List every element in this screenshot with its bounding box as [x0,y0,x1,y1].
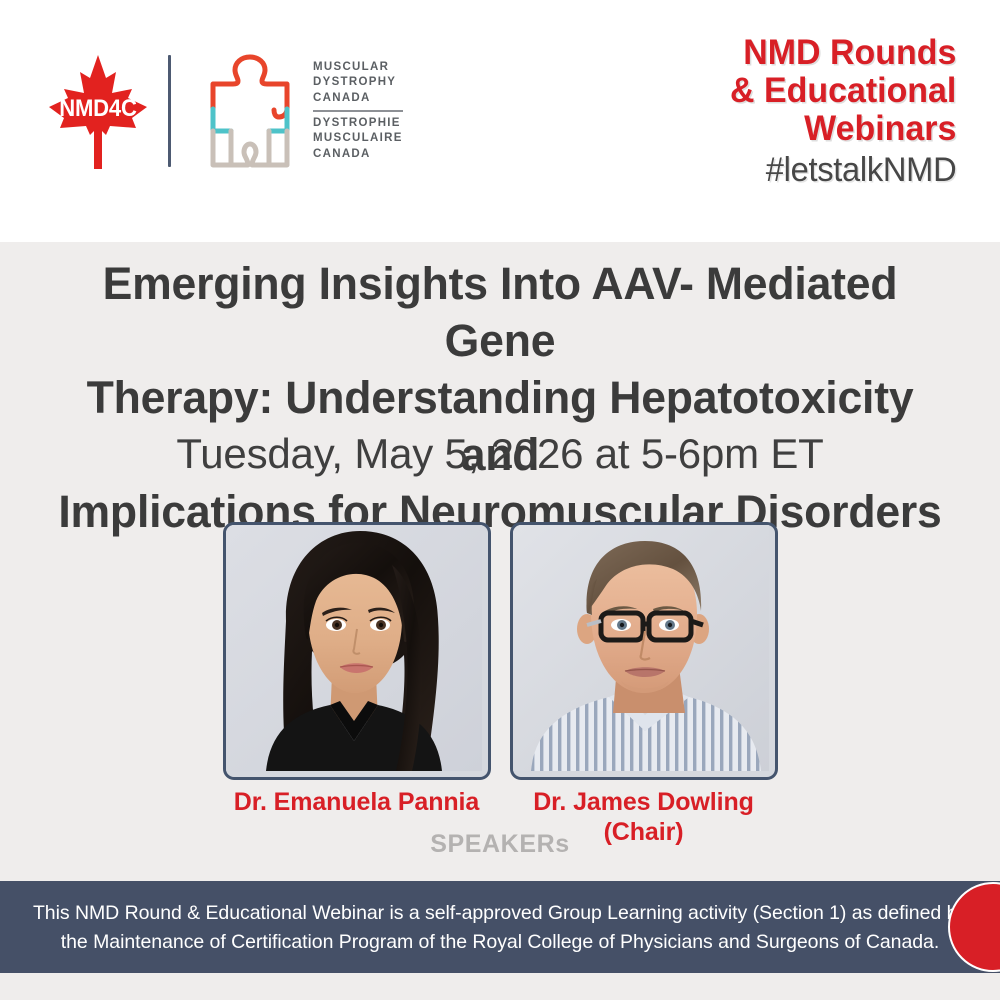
webinar-datetime: Tuesday, May 5, 2026 at 5-6pm ET [50,430,950,478]
headshot-james-dowling-image [513,525,769,771]
logo-divider [168,55,171,167]
webinar-title: Emerging Insights Into AAV- Mediated Gen… [55,255,946,540]
series-title-line-3: Webinars [730,110,956,148]
decorative-red-circle [948,882,1000,972]
accreditation-footer: This NMD Round & Educational Webinar is … [0,881,1000,973]
poster-header: NMD4C [0,0,1000,242]
nmd4c-logo-text: NMD4C [50,95,146,123]
mdc-fr-line-2: MUSCULAIRE [313,131,403,147]
muscular-dystrophy-canada-logo: MUSCULAR DYSTROPHY CANADA DYSTROPHIE MUS… [201,51,403,171]
webinar-poster: NMD4C [0,0,1000,1000]
headshot-emanuela-pannia-image [226,525,482,771]
webinar-title-line-1: Emerging Insights Into AAV- Mediated Gen… [55,255,946,369]
logo-group: NMD4C [46,44,403,178]
accreditation-line-2: the Maintenance of Certification Program… [30,928,970,957]
mdc-wordmark-divider [313,110,403,112]
mdc-wordmark: MUSCULAR DYSTROPHY CANADA DYSTROPHIE MUS… [313,60,403,163]
series-branding: NMD Rounds & Educational Webinars #letst… [723,34,956,189]
poster-body: Emerging Insights Into AAV- Mediated Gen… [0,242,1000,881]
accreditation-line-1: This NMD Round & Educational Webinar is … [30,899,970,928]
nmd4c-maple-leaf-logo: NMD4C [46,51,150,171]
mdc-fr-line-1: DYSTROPHIE [313,116,403,132]
series-hashtag: #letstalkNMD [732,151,956,189]
mdc-en-line-3: CANADA [313,91,403,107]
speaker-photos [0,522,1000,780]
mdc-en-line-2: DYSTROPHY [313,75,403,91]
speaker-photo-frame [223,522,491,780]
mdc-fr-line-3: CANADA [313,147,403,163]
speakers-section-label: SPEAKERs [0,830,1000,859]
mdc-en-line-1: MUSCULAR [313,60,403,76]
bottom-strip [0,973,1000,1000]
speaker-photo-frame [510,522,778,780]
series-title-line-1: NMD Rounds [730,34,956,72]
series-title-line-2: & Educational [730,72,956,110]
accreditation-text: This NMD Round & Educational Webinar is … [30,899,970,957]
puzzle-person-icon [201,51,299,171]
